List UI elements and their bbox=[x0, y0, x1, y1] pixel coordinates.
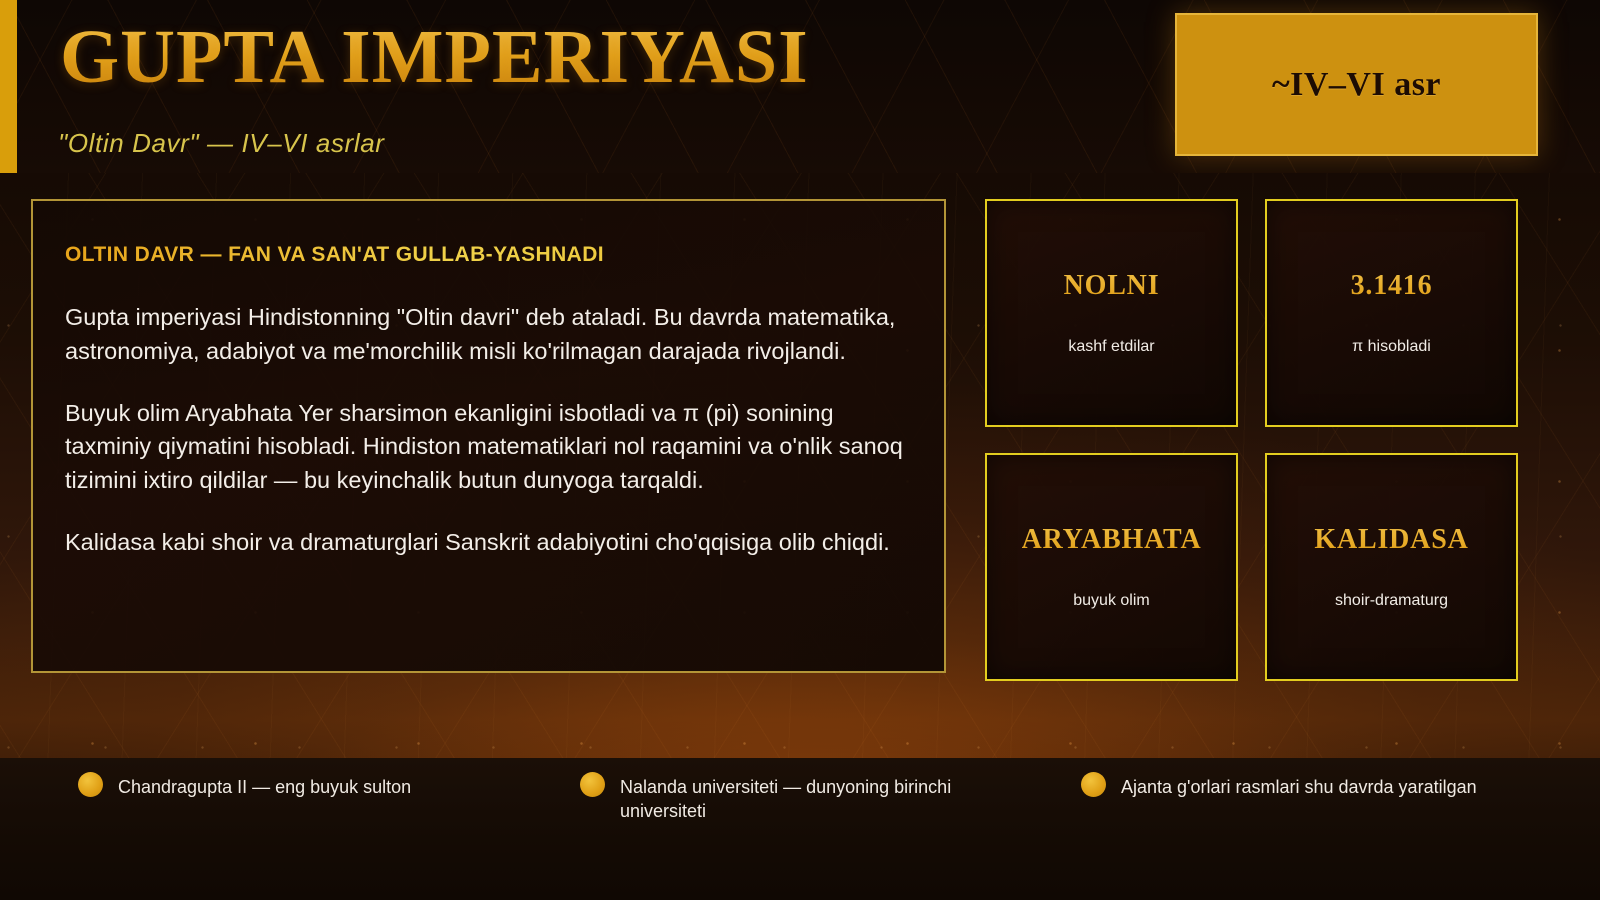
stat-card-value: ARYABHATA bbox=[1022, 524, 1202, 556]
slide-footer: Chandragupta II — eng buyuk sulton Nalan… bbox=[0, 758, 1600, 900]
stat-card-label: shoir-dramaturg bbox=[1335, 592, 1448, 610]
page-subtitle: "Oltin Davr" — IV–VI asrlar bbox=[58, 128, 385, 159]
stat-card: 3.1416 π hisobladi bbox=[1265, 199, 1518, 427]
footer-fact-item: Chandragupta II — eng buyuk sulton bbox=[78, 758, 548, 800]
panel-heading: OLTIN DAVR — FAN VA SAN'AT GULLAB-YASHNA… bbox=[65, 243, 906, 267]
bullet-dot-icon bbox=[1081, 772, 1106, 797]
left-accent-bar bbox=[0, 0, 17, 173]
stat-card: NOLNI kashf etdilar bbox=[985, 199, 1238, 427]
footer-fact-text: Chandragupta II — eng buyuk sulton bbox=[118, 758, 411, 800]
main-text-panel: OLTIN DAVR — FAN VA SAN'AT GULLAB-YASHNA… bbox=[31, 199, 946, 673]
footer-fact-text: Ajanta g'orlari rasmlari shu davrda yara… bbox=[1121, 758, 1477, 800]
paragraph-3: Kalidasa kabi shoir va dramaturglari San… bbox=[65, 526, 906, 560]
stat-card: KALIDASA shoir-dramaturg bbox=[1265, 453, 1518, 681]
bullet-dot-icon bbox=[580, 772, 605, 797]
stat-card-value: NOLNI bbox=[1064, 270, 1160, 302]
stat-card-label: π hisobladi bbox=[1352, 338, 1431, 356]
stat-card-label: buyuk olim bbox=[1073, 592, 1149, 610]
stat-card-label: kashf etdilar bbox=[1068, 338, 1154, 356]
bullet-dot-icon bbox=[78, 772, 103, 797]
page-title: GUPTA IMPERIYASI bbox=[60, 19, 809, 95]
footer-fact-item: Nalanda universiteti — dunyoning birinch… bbox=[580, 758, 1010, 824]
stat-card-value: 3.1416 bbox=[1351, 270, 1433, 302]
paragraph-1: Gupta imperiyasi Hindistonning "Oltin da… bbox=[65, 301, 906, 369]
stat-card: ARYABHATA buyuk olim bbox=[985, 453, 1238, 681]
stat-card-grid: NOLNI kashf etdilar 3.1416 π hisobladi A… bbox=[985, 199, 1537, 681]
slide-root: GUPTA IMPERIYASI "Oltin Davr" — IV–VI as… bbox=[0, 0, 1600, 900]
footer-fact-text: Nalanda universiteti — dunyoning birinch… bbox=[620, 758, 1010, 824]
footer-fact-item: Ajanta g'orlari rasmlari shu davrda yara… bbox=[1081, 758, 1551, 800]
stat-card-value: KALIDASA bbox=[1314, 524, 1468, 556]
era-badge: ~IV–VI asr bbox=[1175, 13, 1538, 156]
slide-header: GUPTA IMPERIYASI "Oltin Davr" — IV–VI as… bbox=[0, 0, 1600, 173]
era-badge-label: ~IV–VI asr bbox=[1272, 66, 1441, 104]
paragraph-2: Buyuk olim Aryabhata Yer sharsimon ekanl… bbox=[65, 397, 906, 498]
